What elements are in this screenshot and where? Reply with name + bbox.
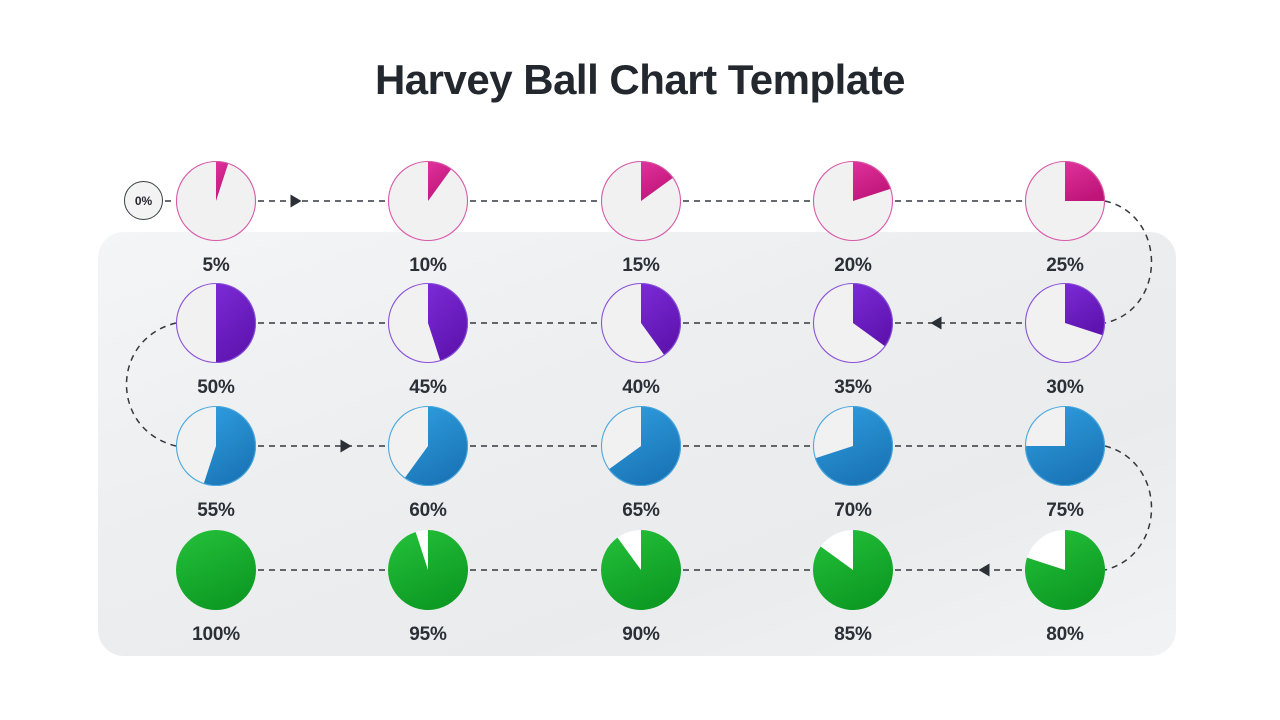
page-title: Harvey Ball Chart Template xyxy=(0,56,1280,104)
harvey-ball-label: 85% xyxy=(803,624,903,646)
harvey-ball-label: 35% xyxy=(803,377,903,399)
harvey-ball[interactable] xyxy=(813,283,893,363)
harvey-ball-label: 100% xyxy=(166,624,266,646)
harvey-ball-cell[interactable]: 60% xyxy=(378,406,478,522)
harvey-ball-label: 50% xyxy=(166,377,266,399)
harvey-ball[interactable] xyxy=(176,161,256,241)
harvey-ball[interactable] xyxy=(388,283,468,363)
harvey-ball[interactable] xyxy=(388,161,468,241)
harvey-ball[interactable] xyxy=(813,161,893,241)
harvey-ball-cell[interactable]: 50% xyxy=(166,283,266,399)
harvey-ball-label: 70% xyxy=(803,500,903,522)
harvey-ball-label: 55% xyxy=(166,500,266,522)
harvey-ball[interactable] xyxy=(176,406,256,486)
harvey-ball-cell[interactable]: 5% xyxy=(166,161,266,277)
harvey-ball-cell[interactable]: 45% xyxy=(378,283,478,399)
harvey-ball[interactable] xyxy=(1025,406,1105,486)
harvey-ball-cell[interactable]: 80% xyxy=(1015,530,1115,646)
harvey-ball-label: 10% xyxy=(378,255,478,277)
harvey-ball-cell[interactable]: 40% xyxy=(591,283,691,399)
harvey-ball-cell[interactable]: 70% xyxy=(803,406,903,522)
harvey-ball[interactable] xyxy=(388,530,468,610)
harvey-ball[interactable] xyxy=(1025,283,1105,363)
harvey-ball[interactable] xyxy=(176,530,256,610)
harvey-ball-label: 65% xyxy=(591,500,691,522)
harvey-ball-cell[interactable]: 15% xyxy=(591,161,691,277)
harvey-ball[interactable] xyxy=(601,161,681,241)
harvey-ball-label: 95% xyxy=(378,624,478,646)
harvey-ball-label: 15% xyxy=(591,255,691,277)
harvey-ball-label: 30% xyxy=(1015,377,1115,399)
harvey-ball-cell[interactable]: 35% xyxy=(803,283,903,399)
harvey-ball-cell[interactable]: 30% xyxy=(1015,283,1115,399)
harvey-ball[interactable] xyxy=(1025,161,1105,241)
harvey-ball-label: 60% xyxy=(378,500,478,522)
harvey-ball[interactable] xyxy=(601,530,681,610)
harvey-ball[interactable] xyxy=(388,406,468,486)
harvey-ball-cell[interactable]: 55% xyxy=(166,406,266,522)
slide-canvas: Harvey Ball Chart Template 0% xyxy=(0,0,1280,720)
harvey-ball-label: 75% xyxy=(1015,500,1115,522)
harvey-ball-cell[interactable]: 25% xyxy=(1015,161,1115,277)
harvey-ball-cell[interactable]: 90% xyxy=(591,530,691,646)
harvey-ball-cell[interactable]: 100% xyxy=(166,530,266,646)
harvey-ball-cell[interactable]: 10% xyxy=(378,161,478,277)
harvey-ball[interactable] xyxy=(813,530,893,610)
harvey-ball[interactable] xyxy=(176,283,256,363)
harvey-ball[interactable] xyxy=(813,406,893,486)
harvey-ball-cell[interactable]: 85% xyxy=(803,530,903,646)
harvey-ball[interactable] xyxy=(601,406,681,486)
harvey-ball-label: 25% xyxy=(1015,255,1115,277)
flow-arrow-row-1 xyxy=(291,195,302,208)
harvey-ball[interactable] xyxy=(601,283,681,363)
start-badge-zero-percent: 0% xyxy=(124,181,163,220)
harvey-ball-label: 5% xyxy=(166,255,266,277)
harvey-ball-label: 40% xyxy=(591,377,691,399)
harvey-ball-label: 45% xyxy=(378,377,478,399)
harvey-ball-label: 80% xyxy=(1015,624,1115,646)
harvey-ball-cell[interactable]: 75% xyxy=(1015,406,1115,522)
harvey-ball[interactable] xyxy=(1025,530,1105,610)
harvey-ball-cell[interactable]: 95% xyxy=(378,530,478,646)
start-badge-label: 0% xyxy=(135,194,152,208)
harvey-ball-label: 90% xyxy=(591,624,691,646)
harvey-ball-cell[interactable]: 20% xyxy=(803,161,903,277)
harvey-ball-cell[interactable]: 65% xyxy=(591,406,691,522)
harvey-ball-label: 20% xyxy=(803,255,903,277)
